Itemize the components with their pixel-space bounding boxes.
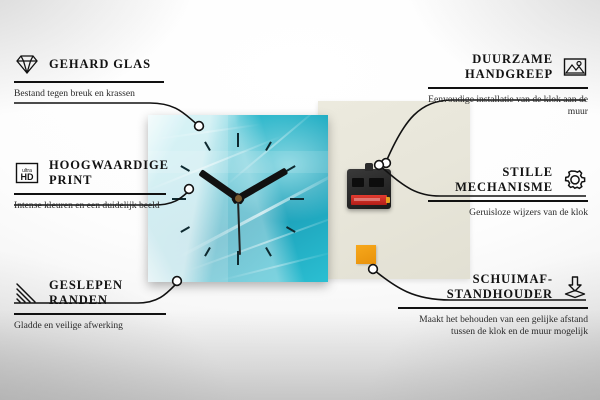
infographic-canvas: GEHARD GLAS Bestand tegen breuk en krass… (0, 0, 600, 400)
battery-band (354, 198, 380, 201)
feature-divider (14, 193, 166, 195)
clock-tick (237, 133, 239, 147)
movement-slot (369, 178, 384, 187)
ultra-hd-icon: ultra HD (14, 161, 40, 185)
svg-text:HD: HD (21, 172, 34, 182)
feature-divider (398, 307, 588, 309)
clock-movement (347, 169, 391, 209)
feature-divider (14, 81, 164, 83)
clock-tick (286, 165, 296, 172)
clock-tick (204, 141, 211, 151)
feature-schuimafstandhouder[interactable]: SCHUIMAF- STANDHOUDER Maakt het behouden… (398, 272, 588, 338)
clock-tick (286, 226, 296, 233)
clock-center-pivot (235, 195, 242, 202)
glass-wall-clock (148, 115, 328, 282)
feature-subtitle: Maakt het behouden van een gelijke afsta… (398, 314, 588, 339)
feature-header: GEHARD GLAS (14, 52, 164, 76)
clock-tick (265, 141, 272, 151)
feature-header: SCHUIMAF- STANDHOUDER (398, 272, 588, 302)
feature-divider (14, 313, 166, 315)
clock-tick (172, 198, 186, 200)
clock-tick (180, 165, 190, 172)
clock-tick (204, 246, 211, 256)
feature-subtitle: Eenvoudige installatie van de klok aan d… (428, 94, 588, 119)
clock-tick (290, 198, 304, 200)
battery (351, 195, 387, 205)
feature-title: SCHUIMAF- STANDHOUDER (398, 272, 553, 302)
feature-geslepen-randen[interactable]: GESLEPEN RANDEN Gladde en veilige afwerk… (14, 278, 166, 332)
clock-tick (180, 226, 190, 233)
battery-terminal (386, 197, 390, 203)
feature-subtitle: Intense kleuren en een duidelijk beeld (14, 200, 166, 212)
gear-icon (562, 168, 588, 192)
feature-divider (428, 200, 588, 202)
movement-shaft (365, 163, 373, 171)
product-photo (140, 95, 380, 285)
feature-header: ultra HD HOOGWAARDIGE PRINT (14, 158, 166, 188)
feature-divider (428, 87, 588, 89)
feature-title: GESLEPEN RANDEN (49, 278, 166, 308)
foam-spacer (356, 245, 376, 264)
picture-frame-icon (562, 55, 588, 79)
feature-title: STILLE MECHANISME (428, 165, 553, 195)
beveled-edge-icon (14, 281, 40, 305)
feature-subtitle: Geruisloze wijzers van de klok (428, 207, 588, 219)
feature-header: GESLEPEN RANDEN (14, 278, 166, 308)
clock-tick (265, 246, 272, 256)
feature-duurzame-handgreep[interactable]: DUURZAME HANDGREEP Eenvoudige installati… (428, 52, 588, 118)
feature-title: GEHARD GLAS (49, 57, 151, 72)
feature-title: HOOGWAARDIGE PRINT (49, 158, 169, 188)
feature-hoogwaardige-print[interactable]: ultra HD HOOGWAARDIGE PRINT Intense kleu… (14, 158, 166, 212)
feature-header: DUURZAME HANDGREEP (428, 52, 588, 82)
movement-slot (352, 178, 364, 187)
feature-subtitle: Bestand tegen breuk en krassen (14, 88, 164, 100)
feature-stille-mechanisme[interactable]: STILLE MECHANISME Geruisloze wijzers van… (428, 165, 588, 219)
feature-subtitle: Gladde en veilige afwerking (14, 320, 166, 332)
arrow-spacer-icon (562, 275, 588, 299)
feature-gehard-glas[interactable]: GEHARD GLAS Bestand tegen breuk en krass… (14, 52, 164, 100)
feature-title: DUURZAME HANDGREEP (428, 52, 553, 82)
feature-header: STILLE MECHANISME (428, 165, 588, 195)
diamond-icon (14, 52, 40, 76)
